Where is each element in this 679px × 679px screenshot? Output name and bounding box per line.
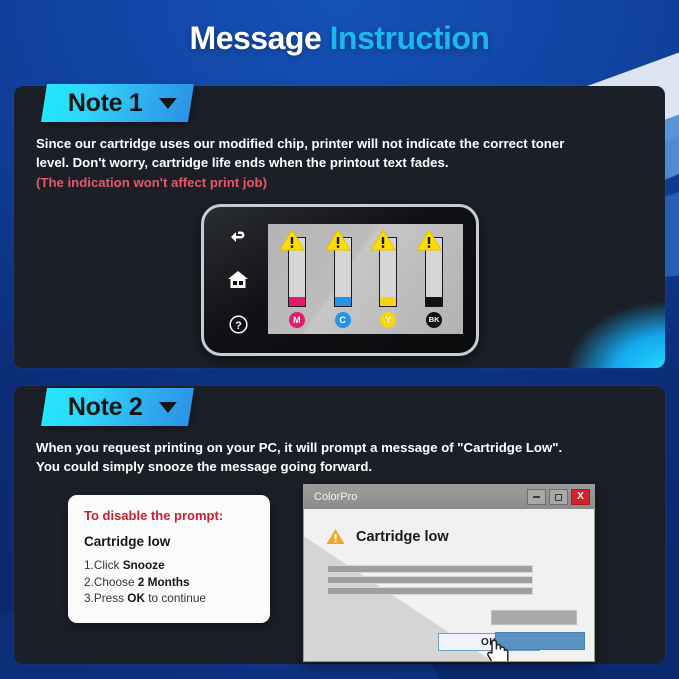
- ink-gauge: Y: [371, 237, 405, 328]
- tab-note-2-label: Note 2: [68, 393, 143, 422]
- hand-cursor-icon: [485, 636, 509, 662]
- note-2-body: When you request printing on your PC, it…: [36, 438, 664, 476]
- ink-gauge: M: [280, 237, 314, 328]
- warning-triangle-icon: [416, 228, 442, 252]
- back-arrow-icon[interactable]: [228, 228, 248, 244]
- note-1-line-2: level. Don't worry, cartridge life ends …: [36, 155, 449, 170]
- ink-gauge: BK: [417, 237, 451, 328]
- placeholder-line: [328, 588, 532, 594]
- title-word-message: Message: [190, 20, 322, 56]
- printer-control-panel: ? M: [201, 204, 479, 356]
- ink-chip: C: [335, 312, 351, 328]
- chevron-down-icon: [159, 98, 177, 109]
- chevron-down-icon: [159, 402, 177, 413]
- printer-screen: M C: [268, 224, 463, 334]
- dialog-secondary-field[interactable]: [492, 611, 576, 624]
- ink-tube: [425, 237, 443, 307]
- ink-chip: Y: [380, 312, 396, 328]
- list-item: 2.Choose 2 Months: [84, 574, 254, 591]
- tab-note-1-label: Note 1: [68, 89, 143, 118]
- close-icon[interactable]: X: [571, 489, 590, 505]
- warning-triangle-icon: [370, 228, 396, 252]
- tab-note-2[interactable]: Note 2: [41, 388, 194, 426]
- ink-fill: [380, 297, 396, 306]
- ink-level-gauges: M C: [268, 224, 463, 334]
- ink-tube: [288, 237, 306, 307]
- ink-chip: M: [289, 312, 305, 328]
- ink-gauge: C: [326, 237, 360, 328]
- dialog-blue-button[interactable]: [496, 633, 584, 649]
- dialog-message: Cartridge low: [356, 529, 449, 545]
- ink-fill: [289, 297, 305, 306]
- help-icon[interactable]: ?: [229, 315, 248, 334]
- ink-fill: [335, 297, 351, 306]
- note-1-line-1: Since our cartridge uses our modified ch…: [36, 136, 564, 151]
- poster-root: Message Instruction Note 1 Since our car…: [0, 0, 679, 679]
- instruction-card-heading: To disable the prompt:: [84, 508, 254, 523]
- dialog-message-row: Cartridge low: [326, 528, 449, 545]
- minimize-icon[interactable]: [527, 489, 546, 505]
- warning-triangle-icon: [279, 228, 305, 252]
- ink-chip: BK: [426, 312, 442, 328]
- panel-corner-glow: [549, 296, 665, 368]
- placeholder-line: [328, 577, 532, 583]
- title-word-instruction: Instruction: [330, 20, 490, 56]
- ink-tube: [334, 237, 352, 307]
- ink-fill: [426, 297, 442, 306]
- dialog-placeholder-lines: [328, 566, 532, 599]
- placeholder-line: [328, 566, 532, 572]
- printer-panel-buttons: ?: [216, 215, 260, 347]
- warning-triangle-icon: [326, 528, 345, 545]
- warning-triangle-icon: [325, 228, 351, 252]
- window-controls: X: [527, 489, 590, 505]
- note-2-line-2: You could simply snooze the message goin…: [36, 459, 372, 474]
- dialog-titlebar[interactable]: ColorPro X: [304, 485, 594, 509]
- note-2-line-1: When you request printing on your PC, it…: [36, 440, 562, 455]
- instruction-card-subheading: Cartridge low: [84, 534, 254, 549]
- tab-note-1[interactable]: Note 1: [41, 84, 194, 122]
- home-icon[interactable]: [227, 270, 249, 289]
- page-title: Message Instruction: [0, 20, 679, 57]
- note-1-caveat: (The indication won't affect print job): [36, 173, 664, 192]
- list-item: 3.Press OK to continue: [84, 590, 254, 607]
- note-1-body: Since our cartridge uses our modified ch…: [36, 134, 664, 192]
- instruction-card: To disable the prompt: Cartridge low 1.C…: [68, 495, 270, 623]
- list-item: 1.Click Snooze: [84, 557, 254, 574]
- maximize-icon[interactable]: [549, 489, 568, 505]
- ink-tube: [379, 237, 397, 307]
- instruction-steps: 1.Click Snooze 2.Choose 2 Months 3.Press…: [84, 557, 254, 607]
- dialog-title: ColorPro: [314, 491, 357, 503]
- dialog-body: Cartridge low OK: [304, 509, 594, 661]
- colorpro-dialog: ColorPro X Cartridge low OK: [303, 484, 595, 662]
- svg-text:?: ?: [235, 320, 242, 332]
